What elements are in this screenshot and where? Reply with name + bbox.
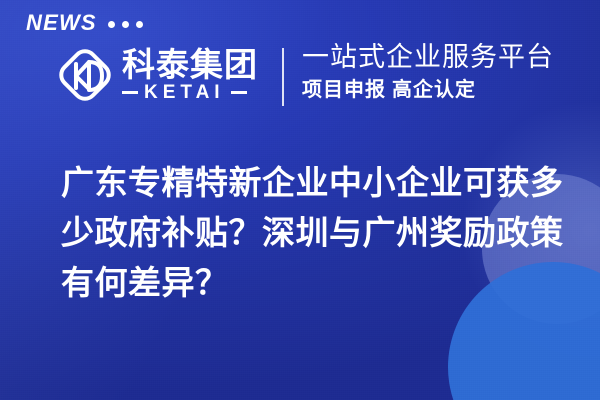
brand-rule-left — [122, 91, 138, 94]
brand-name-cn: 科泰集团 — [122, 48, 258, 82]
ellipsis-dots-icon — [108, 21, 143, 28]
brand-lockup: 科泰集团 KETAI — [56, 44, 258, 106]
brand-wordmark: 科泰集团 KETAI — [122, 48, 258, 103]
headline-line-2: 少政府补贴？深圳与广州奖励政策 — [61, 208, 571, 258]
headline: 广东专精特新企业中小企业可获多 少政府补贴？深圳与广州奖励政策 有何差异？ — [61, 158, 571, 308]
slogan-sub: 项目申报 高企认定 — [302, 79, 554, 101]
slogan-block: 一站式企业服务平台 项目申报 高企认定 — [302, 43, 554, 101]
headline-line-1: 广东专精特新企业中小企业可获多 — [61, 158, 571, 208]
brand-rule-right — [231, 91, 247, 94]
news-eyebrow: NEWS — [26, 12, 143, 34]
vertical-divider — [282, 48, 284, 106]
ketai-logo-icon — [56, 44, 114, 106]
brand-name-en: KETAI — [144, 83, 225, 102]
news-label: NEWS — [26, 12, 97, 34]
slogan-main: 一站式企业服务平台 — [302, 43, 554, 73]
news-banner: NEWS 科泰集团 KETAI 一站式企业服务平台 项目申报 高企认定 — [0, 0, 600, 400]
headline-line-3: 有何差异？ — [61, 258, 571, 308]
brand-name-en-row: KETAI — [122, 83, 258, 102]
